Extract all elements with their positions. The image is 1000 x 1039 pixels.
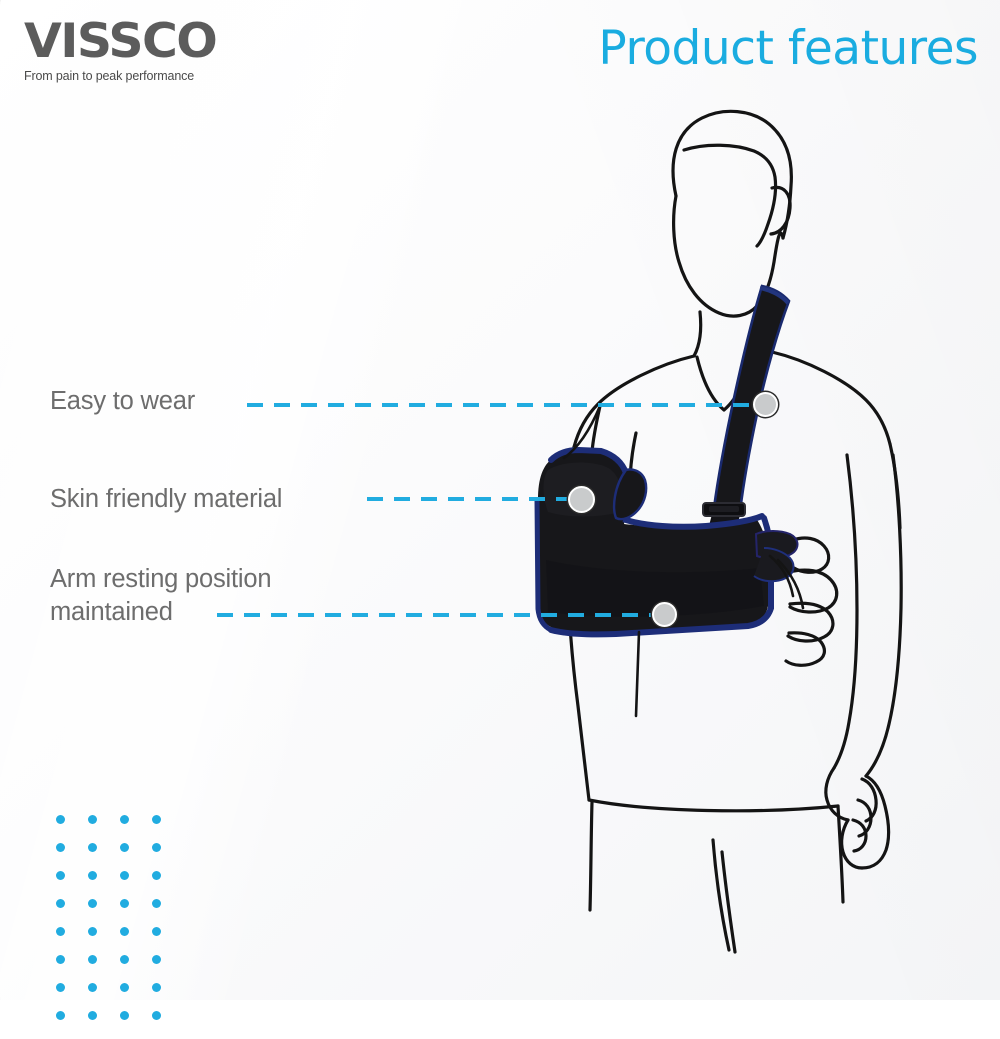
grid-dot [152, 871, 161, 880]
callout-label-skin-friendly-material: Skin friendly material [50, 483, 282, 516]
grid-dot [56, 1011, 65, 1020]
grid-dot [152, 815, 161, 824]
grid-dot [120, 899, 129, 908]
right-arm-outer [866, 455, 901, 776]
callout-label-easy-to-wear: Easy to wear [50, 385, 195, 418]
feature-marker-bottom [652, 602, 677, 627]
grid-dot [120, 815, 129, 824]
leader-line-easy-to-wear [247, 403, 761, 407]
grid-dot [56, 899, 65, 908]
shoulder-left [574, 356, 694, 447]
grid-dot [88, 815, 97, 824]
dot-grid-row [56, 983, 161, 992]
arm-sling-product [537, 286, 797, 634]
shirt-hem [589, 800, 838, 811]
grid-dot [56, 843, 65, 852]
grid-dot [88, 871, 97, 880]
dot-grid-row [56, 843, 161, 852]
grid-dot [152, 927, 161, 936]
grid-dot [152, 983, 161, 992]
decorative-dot-grid [56, 815, 161, 1039]
callout-label-arm-resting-position: Arm resting position maintained [50, 563, 271, 628]
dot-grid-row [56, 815, 161, 824]
dot-grid-row [56, 955, 161, 964]
shorts-left [590, 802, 592, 910]
shoulder-strap [714, 286, 789, 512]
grid-dot [120, 1011, 129, 1020]
grid-dot [88, 983, 97, 992]
grid-dot [152, 955, 161, 964]
grid-dot [152, 843, 161, 852]
grid-dot [56, 955, 65, 964]
shorts-inseam-b [722, 852, 735, 952]
grid-dot [152, 899, 161, 908]
dot-grid-row [56, 1011, 161, 1020]
grid-dot [120, 843, 129, 852]
dot-grid-row [56, 927, 161, 936]
grid-dot [152, 1011, 161, 1020]
grid-dot [88, 843, 97, 852]
grid-dot [120, 927, 129, 936]
feature-marker-pouch [568, 486, 595, 513]
grid-dot [88, 1011, 97, 1020]
grid-dot [120, 871, 129, 880]
leader-line-skin-friendly-material [367, 497, 575, 501]
shoulder-right [772, 352, 890, 444]
grid-dot [120, 955, 129, 964]
neck-left [694, 312, 701, 356]
grid-dot [120, 983, 129, 992]
hand-knuckles [842, 820, 862, 868]
leader-line-arm-resting-position [217, 613, 655, 617]
grid-dot [56, 927, 65, 936]
buckle-bar [709, 506, 739, 512]
dot-grid-row [56, 899, 161, 908]
hairline [684, 145, 776, 246]
grid-dot [56, 871, 65, 880]
grid-dot [88, 899, 97, 908]
feature-marker-strap [753, 392, 778, 417]
grid-dot [88, 927, 97, 936]
right-arm-inner [834, 455, 857, 768]
grid-dot [88, 955, 97, 964]
dot-grid-row [56, 871, 161, 880]
grid-dot [56, 983, 65, 992]
grid-dot [56, 815, 65, 824]
cord-bottom [636, 632, 639, 716]
finger-1 [862, 779, 876, 821]
